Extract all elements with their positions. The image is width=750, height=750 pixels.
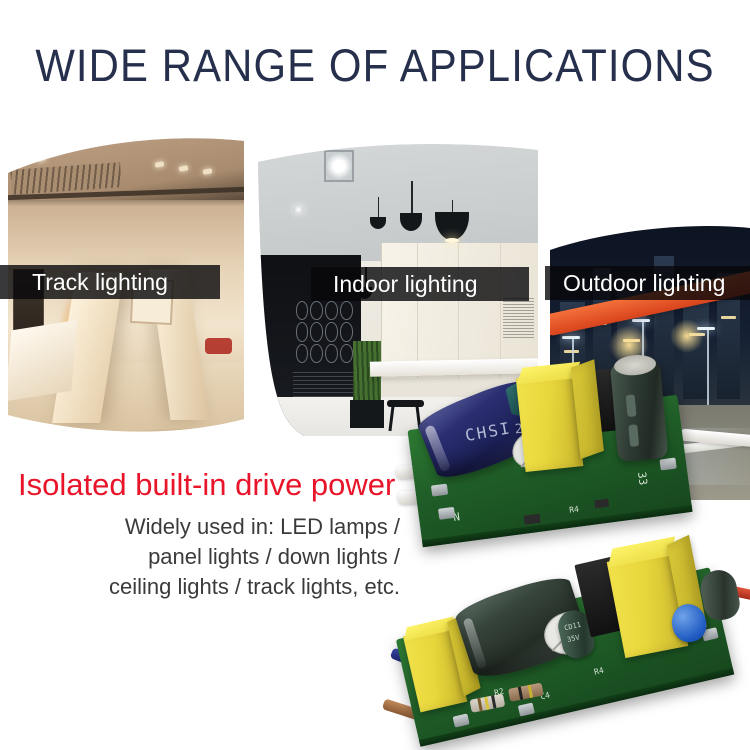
ceiling-spotlight-icon [178, 165, 188, 171]
silk-marking-33: 33 [635, 471, 650, 486]
ceiling-spotlight-icon [25, 149, 35, 156]
product-marketing-image: WIDE RANGE OF APPLICATIONS [0, 0, 750, 750]
caption-label: Track lighting [32, 265, 168, 299]
caption-indoor-lighting: Indoor lighting [311, 267, 529, 301]
led-driver-board-lower: R2 C4 R4 L1 D8 [386, 524, 750, 750]
page-title: WIDE RANGE OF APPLICATIONS [26, 40, 724, 92]
pendant-lamp-icon [398, 181, 424, 247]
output-wire [680, 429, 750, 448]
silk-trace: R4 [593, 666, 604, 677]
led-driver-board-upper: N 33 C1 R4 CHSI 250 [408, 352, 750, 552]
recessed-square-downlight-icon [324, 150, 354, 182]
silk-trace: R4 [569, 505, 580, 515]
small-capacitor-marking: CD11 [564, 621, 582, 633]
resistor [508, 683, 544, 702]
recessed-downlight-icon [293, 206, 304, 213]
feature-headline: Isolated built-in drive power [18, 466, 448, 504]
caption-label: Indoor lighting [333, 267, 478, 301]
caption-label: Outdoor lighting [563, 266, 725, 300]
feature-body-line: panel lights / down lights / [40, 542, 400, 572]
street-lamp-head-icon [632, 319, 650, 322]
transformer [515, 360, 607, 472]
capacitor-brand-marking: CHSI [464, 418, 513, 445]
wall-label-icon [503, 298, 534, 338]
pendant-lamp-icon [367, 197, 389, 237]
street-lamp-head-icon [697, 327, 715, 330]
small-capacitor-rating: 35V [566, 633, 580, 644]
feature-body-line: ceiling lights / track lights, etc. [40, 572, 400, 602]
ceiling-spotlight-icon [202, 168, 212, 174]
caption-track-lighting: Track lighting [0, 265, 220, 299]
feature-body: Widely used in: LED lamps / panel lights… [40, 512, 400, 602]
feature-body-line: Widely used in: LED lamps / [40, 512, 400, 542]
wall-icon-grid [296, 301, 353, 363]
output-capacitor [610, 358, 669, 462]
caption-outdoor-lighting: Outdoor lighting [545, 266, 750, 300]
pendant-lamp-icon [435, 200, 469, 274]
street-lamp-head-icon [562, 336, 580, 339]
